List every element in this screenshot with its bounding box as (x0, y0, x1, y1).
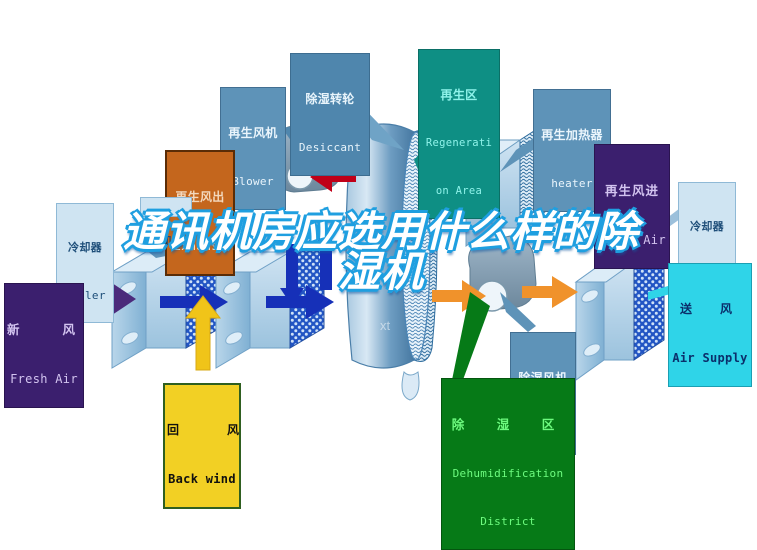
wheel-foot (402, 372, 419, 400)
label-fresh-air-in[interactable]: 新 风 Fresh Air (4, 283, 84, 408)
label-air-supply-cn: 送 风 (671, 303, 749, 316)
label-regen-blower-cn: 再生风机 (223, 127, 283, 140)
label-air-supply-en: Air Supply (671, 352, 749, 365)
label-fresh-air-regen-en: Fresh Air (597, 234, 667, 247)
label-cooler-mid[interactable]: 冷却器 (140, 197, 192, 217)
label-regeneration-area-cn: 再生区 (421, 89, 497, 102)
svg-text:xt: xt (380, 318, 391, 333)
label-back-wind[interactable]: 回 风 Back wind (163, 383, 241, 509)
arrow-down-right (320, 240, 332, 290)
label-fresh-air-regen[interactable]: 再生风进 Fresh Air (594, 144, 670, 269)
label-back-wind-en: Back wind (167, 473, 237, 486)
label-air-supply[interactable]: 送 风 Air Supply (668, 263, 752, 387)
label-desiccant-cn: 除湿转轮 (293, 93, 367, 106)
label-regeneration-area-en2: on Area (421, 186, 497, 198)
label-dehumidification-cn: 除 湿 区 (444, 418, 572, 432)
diagram-canvas: xt (0, 0, 757, 488)
label-fresh-air-in-cn: 新 风 (7, 323, 81, 337)
label-fresh-air-regen-cn: 再生风进 (597, 184, 667, 198)
label-desiccant-en: Desiccant (293, 142, 367, 154)
label-regen-heater-cn: 再生加热器 (536, 129, 608, 142)
label-regeneration-area-en1: Regenerati (421, 138, 497, 150)
label-fresh-air-in-en: Fresh Air (7, 373, 81, 386)
label-dehumidification-district[interactable]: 除 湿 区 Dehumidification District (441, 378, 575, 550)
label-dehumidification-en2: District (444, 516, 572, 528)
label-cooler-left-cn: 冷却器 (59, 242, 111, 254)
label-back-wind-cn: 回 风 (167, 424, 237, 437)
label-cooler-right-cn: 冷却器 (681, 221, 733, 233)
label-cooler-mid-cn: 冷却器 (143, 236, 189, 248)
label-dehumidification-en1: Dehumidification (444, 468, 572, 480)
label-desiccant[interactable]: 除湿转轮 Desiccant (290, 53, 370, 176)
label-regeneration-area[interactable]: 再生区 Regenerati on Area (418, 49, 500, 219)
